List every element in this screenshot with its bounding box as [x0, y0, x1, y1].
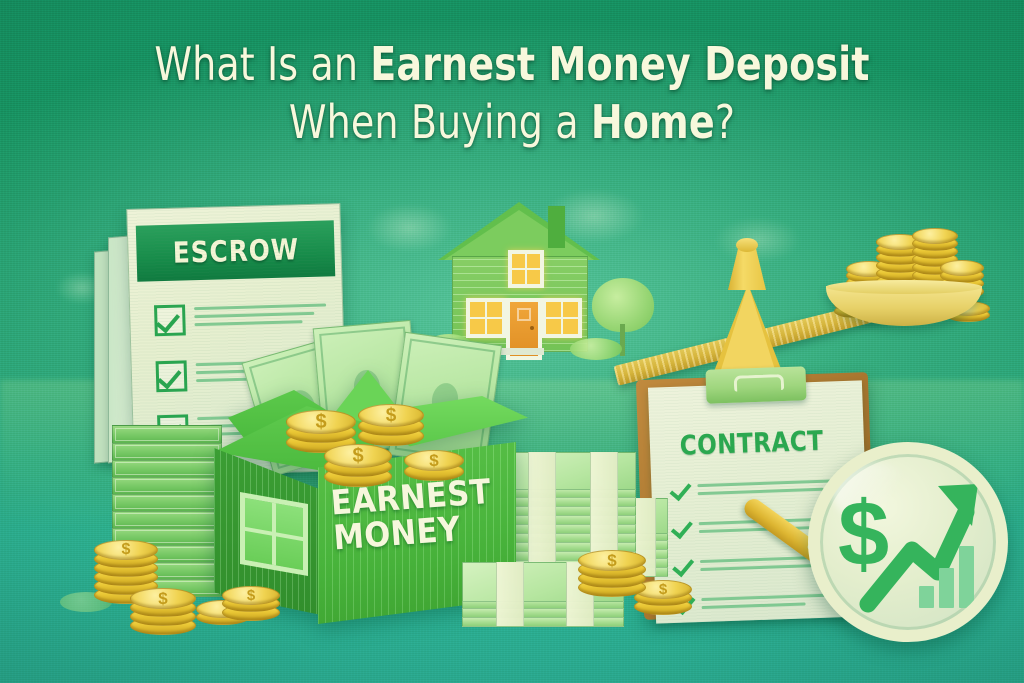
house-window-attic	[508, 250, 544, 288]
scale-column-knob	[736, 238, 758, 252]
coins-in-box: $ $ $ $	[286, 388, 486, 498]
bar-chart-icon	[919, 546, 974, 608]
magnifier-lens: $	[808, 442, 1008, 642]
contract-check-icon[interactable]	[669, 478, 690, 499]
scale-coin-dish-rim	[826, 280, 982, 294]
magnifying-glass: $	[790, 440, 1000, 650]
escrow-heading-text: ESCROW	[172, 232, 299, 270]
box-window	[240, 492, 308, 576]
escrow-checkbox-checked[interactable]	[154, 304, 186, 336]
escrow-heading-banner: ESCROW	[136, 220, 335, 282]
clipboard-clip[interactable]	[705, 366, 806, 403]
contract-check-icon[interactable]	[670, 516, 691, 537]
scale-column-cap	[728, 246, 766, 290]
contract-check-icon[interactable]	[672, 554, 693, 575]
escrow-checkbox-checked[interactable]	[156, 360, 188, 392]
illustration-canvas: What Is an Earnest Money Deposit When Bu…	[0, 0, 1024, 683]
house-window-right	[542, 298, 582, 338]
house-chimney	[548, 206, 565, 248]
